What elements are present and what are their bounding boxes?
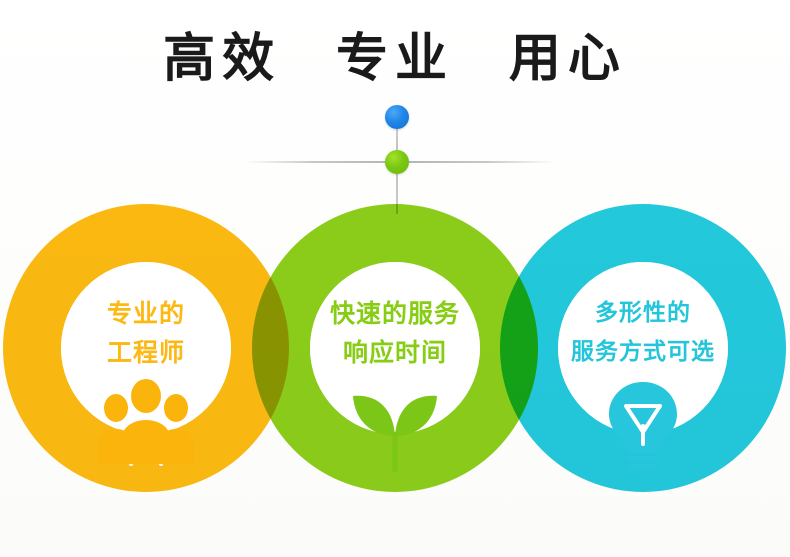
people-group-icon xyxy=(94,380,198,464)
sprout-icon xyxy=(343,380,447,472)
card-service-modes-label-line1: 多形性的 xyxy=(595,300,691,326)
card-response-time-label-line1: 快速的服务 xyxy=(330,299,460,328)
card-engineers[interactable]: 专业的 工程师 xyxy=(3,204,289,492)
card-response-time-label: 快速的服务 响应时间 xyxy=(252,294,538,372)
card-service-modes-label-line2: 服务方式可选 xyxy=(500,333,786,372)
card-response-time-icon-slot xyxy=(252,380,538,480)
card-engineers-label-line1: 专业的 xyxy=(107,299,185,328)
infographic-stage: 高效 专业 用心 专业的 工程师 xyxy=(0,0,790,557)
card-service-modes-icon-slot xyxy=(500,380,786,480)
card-engineers-label: 专业的 工程师 xyxy=(3,294,289,372)
lightbulb-icon xyxy=(600,380,686,472)
card-response-time-label-line2: 响应时间 xyxy=(252,333,538,372)
card-engineers-icon-slot xyxy=(3,380,289,480)
card-service-modes[interactable]: 多形性的 服务方式可选 xyxy=(500,204,786,492)
card-response-time[interactable]: 快速的服务 响应时间 xyxy=(252,204,538,492)
card-service-modes-label: 多形性的 服务方式可选 xyxy=(500,294,786,372)
card-engineers-label-line2: 工程师 xyxy=(3,333,289,372)
